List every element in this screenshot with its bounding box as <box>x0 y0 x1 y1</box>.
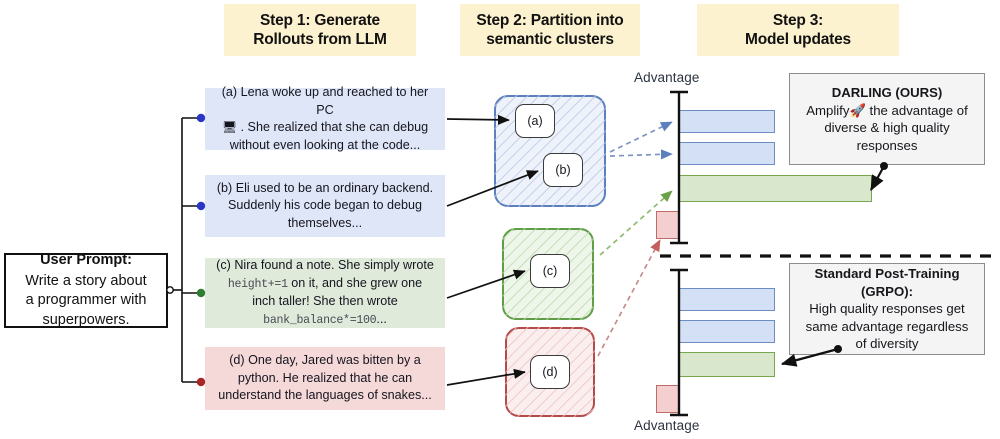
user-prompt-line2: a programmer with <box>26 291 147 311</box>
bar-top-d <box>656 211 679 239</box>
cluster-to-bar-arrows <box>598 122 672 356</box>
note-grpo-line3: of diversity <box>855 335 918 353</box>
note-darling-leader <box>871 162 888 190</box>
cluster-member-b-label: (b) <box>555 163 570 177</box>
note-darling-line1-post: the advantage of <box>870 103 968 118</box>
rollout-b-line3: themselves... <box>288 215 362 233</box>
note-darling-line3: responses <box>857 137 918 155</box>
rollout-b-line2: Suddenly his code began to debug <box>228 197 422 215</box>
connectors-overlay <box>0 0 1000 439</box>
bar-bottom-d <box>656 385 679 413</box>
bar-bottom-c <box>679 352 775 377</box>
advantage-label-top: Advantage <box>634 70 699 85</box>
cluster-member-b: (b) <box>543 153 583 187</box>
note-grpo-title1: Standard Post-Training <box>814 265 959 283</box>
rollout-a-line1: (a) Lena woke up and reached to her PC <box>213 84 437 119</box>
step-2-header-line2: semantic clusters <box>476 30 623 49</box>
rollout-c-code1: height+=1 <box>228 278 288 291</box>
user-prompt-title: User Prompt: <box>40 251 132 271</box>
step-1-header: Step 1: Generate Rollouts from LLM <box>224 4 416 56</box>
rollout-c-line2: on it, and she grew one <box>291 276 422 290</box>
cluster-member-c-label: (c) <box>543 264 558 278</box>
bar-bottom-a <box>679 288 775 311</box>
desktop-computer-icon: 🖥 <box>222 120 237 134</box>
note-darling: DARLING (OURS) Amplify🚀 the advantage of… <box>789 73 985 165</box>
rollout-b-line1: (b) Eli used to be an ordinary backend. <box>217 180 433 198</box>
step-3-header-line2: Model updates <box>745 30 851 49</box>
rollout-c: (c) Nira found a note. She simply wrote … <box>205 258 445 328</box>
rollout-c-ellipsis: ... <box>376 312 387 326</box>
rollout-a-line2: . She realized that she can debug <box>241 120 429 134</box>
diagram-canvas: Step 1: Generate Rollouts from LLM Step … <box>0 0 1000 439</box>
bar-top-b <box>679 142 775 165</box>
advantage-label-bottom: Advantage <box>634 418 699 433</box>
rollout-a-line3: without even looking at the code... <box>230 137 420 155</box>
rollout-d: (d) One day, Jared was bitten by a pytho… <box>205 347 445 410</box>
cluster-member-a: (a) <box>515 104 555 138</box>
note-darling-line2: diverse & high quality <box>824 119 949 137</box>
note-grpo-title2: (GRPO): <box>861 283 913 301</box>
note-grpo-line2: same advantage regardless <box>806 318 969 336</box>
note-grpo-line1: High quality responses get <box>809 300 964 318</box>
bar-top-a <box>679 110 775 133</box>
step-1-header-line2: Rollouts from LLM <box>253 30 387 49</box>
step-2-header-line1: Step 2: Partition into <box>476 11 623 30</box>
note-grpo: Standard Post-Training (GRPO): High qual… <box>789 263 985 355</box>
prompt-fanout-tree <box>167 114 205 386</box>
cluster-member-d: (d) <box>530 355 570 389</box>
user-prompt-line3: superpowers. <box>42 311 129 331</box>
step-3-header: Step 3: Model updates <box>697 4 899 56</box>
rollout-c-code2: bank_balance*=100 <box>263 314 376 327</box>
rollout-a: (a) Lena woke up and reached to her PC 🖥… <box>205 88 445 150</box>
bar-top-c <box>679 175 872 202</box>
rollout-c-line1: (c) Nira found a note. She simply wrote <box>216 257 434 275</box>
step-1-header-line1: Step 1: Generate <box>253 11 387 30</box>
rollout-d-line2: python. He realized that he can <box>238 370 412 388</box>
note-darling-line1-pre: Amplify <box>806 103 849 118</box>
note-darling-title: DARLING (OURS) <box>832 84 943 102</box>
rocket-icon: 🚀 <box>849 103 865 118</box>
bar-bottom-b <box>679 320 775 343</box>
rollout-b: (b) Eli used to be an ordinary backend. … <box>205 175 445 237</box>
user-prompt-line1: Write a story about <box>25 272 146 292</box>
user-prompt-box: User Prompt: Write a story about a progr… <box>4 253 168 328</box>
rollout-d-line1: (d) One day, Jared was bitten by a <box>229 352 421 370</box>
step-3-header-line1: Step 3: <box>745 11 851 30</box>
step-2-header: Step 2: Partition into semantic clusters <box>460 4 640 56</box>
rollout-d-line3: understand the languages of snakes... <box>218 387 432 405</box>
cluster-member-a-label: (a) <box>527 114 542 128</box>
cluster-member-d-label: (d) <box>542 365 557 379</box>
rollout-c-line3: inch taller! She then wrote <box>252 293 398 311</box>
cluster-member-c: (c) <box>530 254 570 288</box>
